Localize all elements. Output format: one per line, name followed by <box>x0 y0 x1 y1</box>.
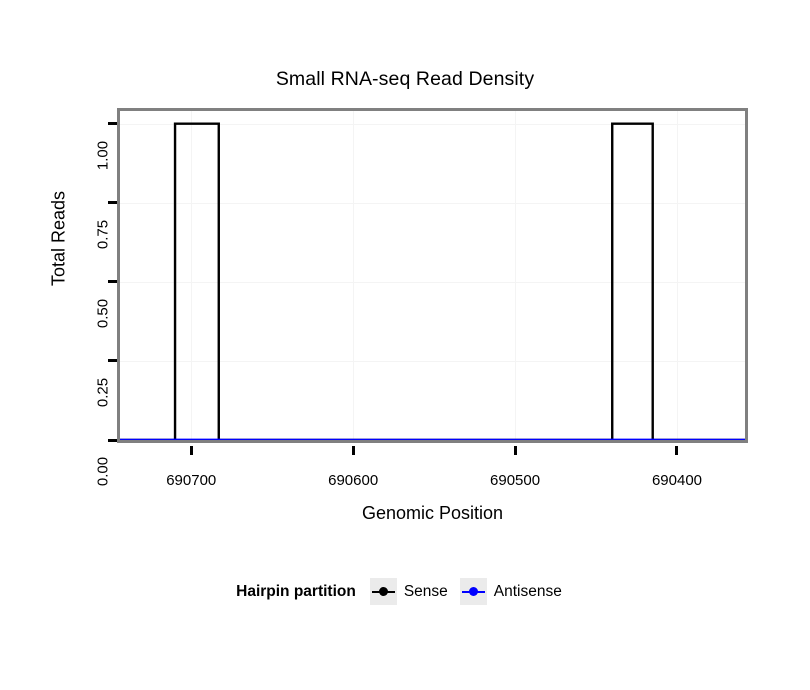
legend-key-point <box>379 587 388 596</box>
x-tick-label: 690600 <box>303 472 403 489</box>
y-tick-label: 0.00 <box>95 440 112 504</box>
page-title: Small RNA-seq Read Density <box>0 68 810 91</box>
x-tick-mark <box>190 446 193 455</box>
legend-key-point <box>469 587 478 596</box>
plot-area <box>120 111 745 440</box>
data-series-layer <box>120 111 745 440</box>
x-tick-mark <box>514 446 517 455</box>
line-point-key-icon <box>460 578 487 605</box>
line-point-key-icon <box>370 578 397 605</box>
plot-panel <box>117 108 748 443</box>
legend-entry-sense[interactable]: Sense <box>370 578 448 605</box>
y-tick-label: 0.75 <box>95 202 112 266</box>
x-tick-label: 690400 <box>627 472 727 489</box>
y-tick-label: 1.00 <box>95 123 112 187</box>
y-tick-label: 0.50 <box>95 281 112 345</box>
x-tick-label: 690700 <box>141 472 241 489</box>
legend: Hairpin partition SenseAntisense <box>0 578 810 605</box>
legend-entry-antisense[interactable]: Antisense <box>460 578 562 605</box>
series-line-sense <box>120 124 745 440</box>
chart-figure: Small RNA-seq Read Density Total Reads G… <box>0 0 810 690</box>
y-tick-label: 0.25 <box>95 360 112 424</box>
x-tick-mark <box>675 446 678 455</box>
legend-label: Antisense <box>494 583 562 601</box>
x-tick-label: 690500 <box>465 472 565 489</box>
legend-label: Sense <box>404 583 448 601</box>
y-axis-title: Total Reads <box>49 159 70 319</box>
x-tick-mark <box>352 446 355 455</box>
x-axis-title: Genomic Position <box>117 503 748 524</box>
legend-title: Hairpin partition <box>236 583 356 601</box>
